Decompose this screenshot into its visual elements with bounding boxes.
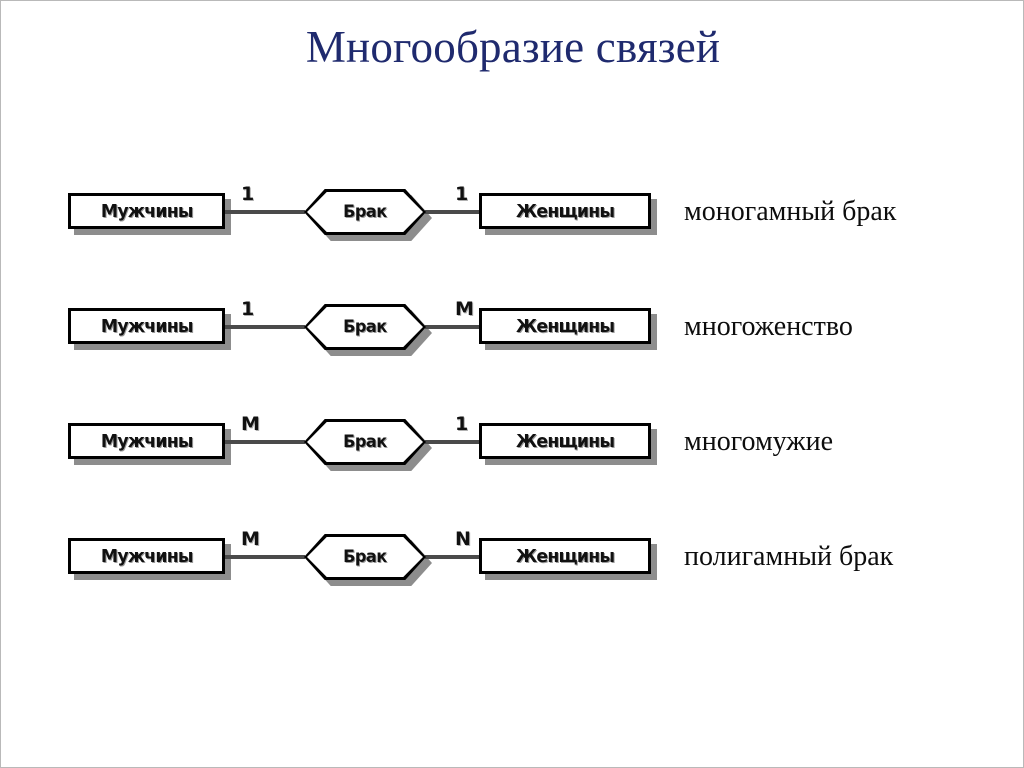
connector-line-right <box>425 210 480 214</box>
entity-label: Мужчины <box>101 316 193 337</box>
entity-box-men[interactable]: Мужчины <box>68 193 225 229</box>
er-row: Мужчины 1 Брак 1 Женщины моногамный брак <box>1 179 1024 271</box>
connector-line-right <box>425 325 480 329</box>
hexagon-fill: Брак <box>307 422 423 462</box>
entity-box-women[interactable]: Женщины <box>479 193 651 229</box>
entity-box-men[interactable]: Мужчины <box>68 308 225 344</box>
cardinality-label-left: 1 <box>241 183 254 205</box>
hexagon-fill: Брак <box>307 307 423 347</box>
relationship-hexagon-marriage[interactable]: Брак <box>304 419 426 465</box>
er-row: Мужчины 1 Брак M Женщины многоженство <box>1 294 1024 386</box>
cardinality-label-right: M <box>455 298 474 320</box>
row-caption: многоженство <box>684 310 853 344</box>
entity-box-women[interactable]: Женщины <box>479 308 651 344</box>
entity-box-men[interactable]: Мужчины <box>68 538 225 574</box>
cardinality-label-right: 1 <box>455 413 468 435</box>
connector-line-left <box>225 325 305 329</box>
cardinality-label-left: M <box>241 413 260 435</box>
entity-box-women[interactable]: Женщины <box>479 538 651 574</box>
cardinality-label-left: 1 <box>241 298 254 320</box>
row-caption: полигамный брак <box>684 540 893 574</box>
relationship-hexagon-marriage[interactable]: Брак <box>304 189 426 235</box>
entity-label: Мужчины <box>101 201 193 222</box>
entity-label: Женщины <box>516 546 614 567</box>
cardinality-label-right: N <box>455 528 471 550</box>
er-row: Мужчины M Брак 1 Женщины многомужие <box>1 409 1024 501</box>
entity-box-men[interactable]: Мужчины <box>68 423 225 459</box>
hexagon-fill: Брак <box>307 192 423 232</box>
relationship-label: Брак <box>343 432 386 452</box>
connector-line-left <box>225 555 305 559</box>
cardinality-label-left: M <box>241 528 260 550</box>
connector-line-right <box>425 555 480 559</box>
relationship-label: Брак <box>343 317 386 337</box>
entity-label: Мужчины <box>101 431 193 452</box>
connector-line-left <box>225 210 305 214</box>
entity-box-women[interactable]: Женщины <box>479 423 651 459</box>
connector-line-right <box>425 440 480 444</box>
page-title: Многообразие связей <box>1 19 1024 75</box>
hexagon-fill: Брак <box>307 537 423 577</box>
er-row: Мужчины M Брак N Женщины полигамный брак <box>1 524 1024 616</box>
row-caption: многомужие <box>684 425 833 459</box>
relationship-label: Брак <box>343 547 386 567</box>
slide-canvas: Многообразие связей Мужчины 1 Брак 1 Жен… <box>0 0 1024 768</box>
entity-label: Женщины <box>516 431 614 452</box>
entity-label: Женщины <box>516 316 614 337</box>
relationship-hexagon-marriage[interactable]: Брак <box>304 304 426 350</box>
relationship-hexagon-marriage[interactable]: Брак <box>304 534 426 580</box>
row-caption: моногамный брак <box>684 195 896 229</box>
connector-line-left <box>225 440 305 444</box>
relationship-label: Брак <box>343 202 386 222</box>
cardinality-label-right: 1 <box>455 183 468 205</box>
entity-label: Женщины <box>516 201 614 222</box>
entity-label: Мужчины <box>101 546 193 567</box>
